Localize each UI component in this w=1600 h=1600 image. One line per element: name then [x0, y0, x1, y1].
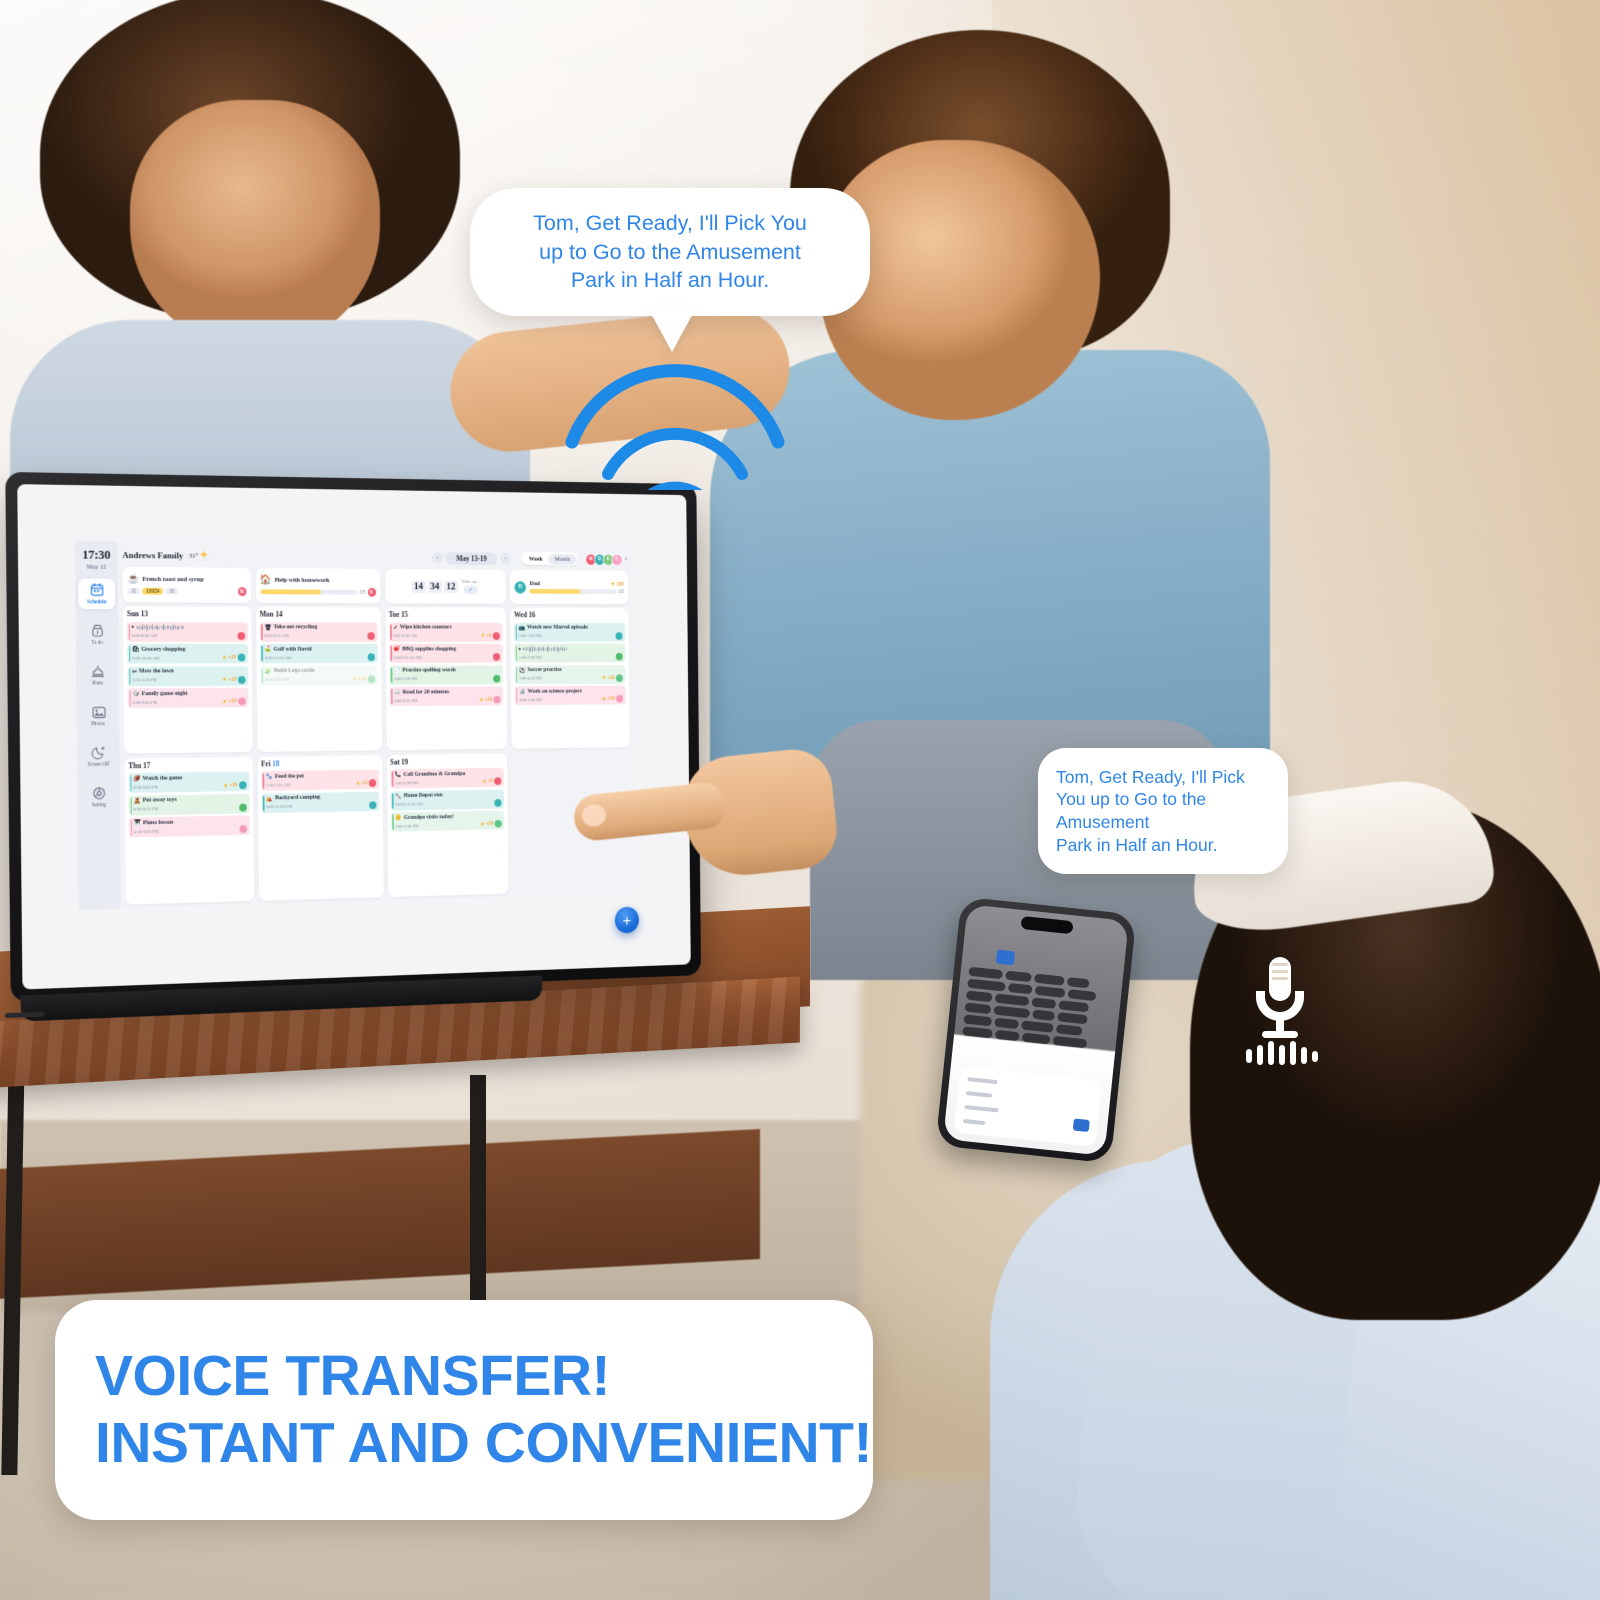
microphone-icon [1232, 955, 1328, 1065]
event-meta-row: 2:00-2:30 PM★+5 [395, 777, 502, 786]
sidebar-item-photos[interactable]: Photos [79, 700, 116, 731]
countdown-caption: Wake up... [462, 579, 480, 584]
countdown-digits: 14 34 12 [411, 580, 458, 593]
speech-line: Tom, Get Ready, I'll Pick [1056, 766, 1245, 789]
event-card[interactable]: 📄Practice spelling words2:00-2:30 PM [389, 665, 503, 685]
event-time: 6:00-11:00 PM [266, 804, 292, 809]
event-points-group: ★+5 [480, 632, 500, 640]
phone-app-tile[interactable] [1053, 1036, 1088, 1049]
event-title-row: 📺Watch new Marvel episode [519, 624, 623, 631]
event-emoji-icon: ⚽ [519, 667, 526, 674]
event-time: 2:00-2:30 PM [394, 676, 417, 681]
progress-label: 3/5 [360, 589, 366, 594]
phone-app-tile[interactable] [1058, 1000, 1089, 1012]
sun-cloud-icon [200, 550, 211, 561]
day-column-fri[interactable]: Fri 18🐾Feed the pet7:30-7:45 AM★+5⛺Backy… [257, 755, 383, 901]
event-member-dot [616, 674, 623, 682]
event-meta-row: 9:00-10:00 AM★+10 [132, 654, 245, 662]
countdown-digit: 12 [444, 580, 458, 592]
phone-app-tile[interactable] [993, 1006, 1030, 1019]
event-points: +10 [358, 676, 366, 682]
day-name: Mon [260, 610, 274, 619]
phone-app-tile[interactable] [966, 991, 993, 1003]
event-meta-row: 4:00-5:00 PM★+10 [519, 695, 623, 703]
event-card[interactable]: ⛺Backyard camping6:00-11:00 PM [261, 791, 378, 812]
event-title: Read for 20 minutes [403, 689, 450, 695]
speech-bubble-phone-text: Tom, Get Ready, I'll PickYou up to Go to… [1038, 766, 1263, 857]
event-title-row: ✂Mow the lawn [132, 668, 245, 675]
event-member-dot [493, 674, 500, 682]
star-icon: ★ [222, 654, 227, 661]
event-card[interactable]: 🐾Feed the pet7:30-7:45 AM★+5 [261, 770, 378, 791]
member-name: Dad [530, 580, 540, 587]
event-title: Feed the pet [275, 773, 304, 779]
event-points-group: ★+10 [223, 781, 247, 789]
day-number: 15 [401, 610, 408, 619]
star-icon: ★ [601, 674, 606, 681]
day-column-mon[interactable]: Mon 14🗑Take out recycling8:00-8:15 AM⛳Go… [256, 607, 382, 752]
event-meta-row: 8:00-8:20 PM★+11 [394, 696, 501, 704]
event-card[interactable]: 🧩Build Lego castle4:00-5:30 PM★+10 [260, 665, 377, 685]
day-name: Wed [514, 611, 527, 620]
event-points-group: ★+11 [479, 696, 501, 704]
event-member-dot [239, 825, 247, 833]
event-title-row: ▸ [519, 645, 623, 652]
promo-banner: VOICE TRANSFER! INSTANT AND CONVENIENT! [55, 1300, 873, 1520]
event-card[interactable]: 👴Grandpa visits today!2:00-3:30 PM★+10 [391, 810, 505, 831]
event-meta-row: 1:30-2:30 PM★+10 [132, 676, 245, 684]
event-points-group [369, 801, 376, 809]
pointing-hand [569, 748, 820, 892]
event-title-row: ✓Wipe kitchen counters [393, 624, 500, 631]
play-icon[interactable]: ▸ [519, 646, 521, 652]
add-member-button[interactable]: + [624, 556, 628, 563]
event-member-dot [238, 697, 246, 705]
event-time: 6:00-9:00 PM [133, 699, 158, 704]
phone-app-tile[interactable] [965, 1002, 992, 1014]
event-meta-row: 8:00-11:00 AM [265, 653, 375, 661]
day-column-wed[interactable]: Wed 16📺Watch new Marvel episode6:00-7:00… [510, 608, 629, 749]
event-points-group [616, 653, 623, 660]
day-column-thu[interactable]: Thu 17🏈Watch the game8:00-9:00 PM★+10🧸Pu… [124, 756, 254, 904]
speech-bubble-tail [648, 308, 696, 352]
day-name: Sun [127, 609, 139, 618]
event-time: 2:00-3:30 PM [395, 823, 418, 828]
event-member-dot [368, 779, 375, 787]
wifi-signal-icon [560, 350, 790, 490]
event-points-group: ★+10 [222, 676, 246, 684]
widget-task-progress: 3/5 K [260, 587, 375, 596]
event-emoji-icon: 👴 [395, 814, 402, 821]
speech-line: Park in Half an Hour. [533, 266, 807, 294]
countdown-check-button[interactable]: ✓ [464, 585, 478, 594]
event-card[interactable]: 🎲Family game night6:00-9:00 PM★+12 [128, 688, 249, 708]
event-title-row: 🗑Take out recycling [264, 624, 374, 631]
event-emoji-icon: 🧩 [265, 668, 272, 675]
star-icon: ★ [480, 821, 485, 828]
event-title: Put away toys [143, 797, 177, 804]
play-icon[interactable]: ▸ [132, 624, 134, 630]
star-icon: ★ [223, 782, 228, 789]
day-header: Tue 15 [389, 610, 503, 619]
event-member-dot [239, 803, 247, 811]
event-title: BBQ supplies shopping [402, 646, 456, 652]
widget-meal-chips: 31 120CH 26 M [128, 586, 247, 595]
event-emoji-icon: 📞 [395, 771, 402, 778]
view-toggle: Week Month [521, 552, 577, 566]
speech-line: Park in Half an Hour. [1056, 834, 1245, 857]
event-card[interactable]: 📞Call Grandma & Grandpa2:00-2:30 PM★+5 [390, 768, 504, 789]
phone-app-tile[interactable] [1005, 971, 1032, 983]
event-points-group [616, 632, 623, 639]
event-meta-row: 8:00-8:30 PM [134, 803, 247, 813]
day-number: 13 [141, 609, 148, 618]
event-card[interactable]: 🔬Work on science project4:00-5:00 PM★+10 [515, 686, 626, 706]
chip: 31 [128, 587, 141, 594]
avatar: K [367, 587, 375, 596]
sidebar-item-screen-off[interactable]: Screen Off [80, 741, 117, 772]
chip: 120CH [142, 587, 163, 594]
event-card[interactable]: 🥩BBQ supplies shopping10:00-11:30 AM [389, 644, 503, 663]
week-grid: Sun 13▸8:00-8:30 AM🛍Grocery shopping9:00… [123, 606, 631, 908]
day-name: Tue [389, 610, 400, 619]
event-member-dot [616, 632, 623, 639]
event-points: +11 [485, 697, 492, 703]
voice-waveform [523, 646, 567, 653]
calendar-icon [89, 582, 104, 597]
event-time: 8:00-8:30 PM [134, 806, 159, 811]
widget-member[interactable]: D Dad ★ 100 3/5 [510, 570, 628, 605]
page-title: Andrews Family [122, 550, 183, 560]
phone-app-tile[interactable] [1008, 983, 1033, 994]
day-column-sat[interactable]: Sat 19📞Call Grandma & Grandpa2:00-2:30 P… [386, 753, 508, 897]
event-meta-row: 5:00-7:00 PM [519, 653, 623, 661]
sidebar-item-label: Setting [92, 802, 106, 808]
sidebar-item-to-do[interactable]: To do [78, 619, 115, 650]
star-icon: ★ [482, 778, 487, 785]
person-boy-left [10, 0, 530, 510]
phone-app-tile[interactable] [1022, 1033, 1051, 1045]
speech-line: You up to Go to the [1056, 788, 1245, 811]
event-emoji-icon: 🎹 [134, 819, 141, 826]
sidebar-item-label: Photos [91, 721, 105, 727]
event-member-dot [616, 695, 623, 703]
bell-icon [90, 664, 105, 679]
widget-countdown[interactable]: 14 34 12 Wake up... ✓ [385, 569, 506, 604]
event-points-group [237, 632, 245, 640]
event-member-dot [616, 653, 623, 660]
moon-icon [91, 745, 106, 760]
phone-app-tile[interactable] [1035, 986, 1066, 998]
widget-meal[interactable]: ☕ French toast and syrup 31 120CH 26 M [122, 567, 251, 603]
event-meta-row: 4:00-5:30 PM★+10 [265, 675, 375, 683]
event-card[interactable]: 🗑Take out recycling8:00-8:15 AM [260, 622, 377, 641]
event-time: 9:00-10:00 AM [132, 655, 159, 660]
progress-bar [260, 589, 358, 594]
day-header: Sat 19 [390, 756, 504, 766]
progress-label: 3/5 [618, 589, 624, 594]
widget-task-title: Help with housework [275, 577, 330, 584]
event-title-row: 📄Practice spelling words [394, 667, 501, 674]
week-navigator: ‹ May 13-19 › [432, 552, 511, 565]
event-time: 10:00-11:30 AM [394, 655, 422, 660]
event-title-row: 🔬Work on science project [519, 688, 623, 695]
day-header: Thu 17 [128, 759, 249, 769]
date-range-label[interactable]: May 13-19 [446, 552, 498, 565]
event-title: Piano lesson [143, 819, 173, 826]
member-points: 100 [616, 581, 623, 587]
event-title: Mow the lawn [139, 668, 174, 674]
speech-bubble-phone: Tom, Get Ready, I'll PickYou up to Go to… [1038, 748, 1288, 874]
phone-app-tile[interactable] [968, 967, 1003, 980]
speech-bubble-device-text: Tom, Get Ready, I'll Pick Youup to Go to… [511, 209, 829, 294]
event-meta-row: 2:00-3:30 PM★+10 [395, 820, 502, 830]
event-title: Family game night [142, 690, 188, 696]
event-meta-row: 10:00-11:30 AM [394, 653, 501, 661]
event-card[interactable]: 🧸Put away toys8:00-8:30 PM [129, 793, 250, 815]
avatar: M [238, 587, 247, 596]
event-points-group: ★+10 [480, 820, 502, 828]
phone-app-tile[interactable] [967, 979, 1006, 992]
sidebar-item-plans[interactable]: Plans [79, 660, 116, 691]
sidebar-item-label: Screen Off [87, 762, 109, 768]
event-emoji-icon: 🔬 [519, 688, 526, 695]
sidebar-item-label: Plans [92, 681, 103, 687]
event-card[interactable]: ✓Wipe kitchen counters8:00-8:30 AM★+5 [389, 622, 503, 641]
smart-calendar-device: 17:30 May 12 ScheduleTo doPlansPhotosScr… [5, 472, 701, 1002]
voice-waveform [136, 624, 184, 631]
event-time: 8:00-9:00 PM [133, 784, 158, 789]
phone-app-tile[interactable] [1034, 974, 1065, 986]
event-title-row: 📖Read for 20 minutes [394, 688, 501, 695]
event-points: +10 [228, 677, 236, 683]
progress-bar [530, 589, 617, 594]
event-card[interactable]: 📺Watch new Marvel episode6:00-7:00 PM [514, 622, 625, 641]
event-title: Home Depot run [404, 792, 443, 798]
event-member-dot [239, 781, 247, 789]
phone-app-tile[interactable] [1032, 1010, 1055, 1021]
phone-highlight-tile [996, 950, 1015, 966]
star-icon: ★ [479, 696, 484, 703]
event-title: Watch new Marvel episode [527, 625, 588, 631]
app-sidebar: 17:30 May 12 ScheduleTo doPlansPhotosScr… [75, 541, 121, 910]
event-points: +10 [229, 782, 237, 788]
widget-task[interactable]: 🏠 Help with housework 3/5 K [255, 568, 380, 604]
event-emoji-icon: 🛍 [132, 646, 139, 653]
event-points-group: ★+12 [222, 697, 246, 705]
event-title: Grandpa visits today! [404, 814, 454, 821]
headline-line-2: INSTANT AND CONVENIENT! [95, 1410, 873, 1477]
event-points-group: ★+5 [355, 779, 375, 787]
event-points-group [367, 653, 374, 661]
event-meta-row: 2:00-2:30 PM [394, 674, 501, 682]
countdown-digit: 34 [427, 580, 442, 592]
event-member-dot [494, 696, 501, 704]
event-title-row: 🧩Build Lego castle [265, 667, 375, 674]
clock-widget: 17:30 May 12 [82, 547, 110, 571]
event-card[interactable]: ✂Mow the lawn1:30-2:30 PM★+10 [127, 666, 248, 686]
event-card[interactable]: 📖Read for 20 minutes8:00-8:20 PM★+11 [389, 686, 503, 706]
event-member-dot [495, 799, 502, 807]
tab-week[interactable]: Week [523, 553, 549, 564]
event-title: Soccer practice [527, 667, 561, 673]
event-points-group [367, 632, 374, 640]
event-time: 4:30-6:00 PM [134, 828, 159, 833]
event-meta-row: 4:30-6:00 PM [134, 825, 247, 835]
phone-screen[interactable] [943, 904, 1129, 1156]
event-points-group [493, 674, 500, 682]
smartphone [935, 896, 1136, 1163]
phone-app-tile[interactable] [995, 1030, 1020, 1041]
weather-widget: 31° [189, 550, 211, 561]
event-points: +5 [487, 633, 492, 639]
headline-line-1: VOICE TRANSFER! [95, 1343, 873, 1410]
phone-app-tile[interactable] [995, 994, 1030, 1007]
avatar[interactable]: C [611, 553, 622, 565]
speech-line: Tom, Get Ready, I'll Pick You [533, 209, 807, 237]
widget-row: ☕ French toast and syrup 31 120CH 26 M 🏠 [122, 567, 628, 604]
event-member-dot [493, 632, 500, 640]
event-title-row: ⛳Golf with David [265, 646, 375, 653]
phone-app-tile[interactable] [994, 1018, 1019, 1029]
event-title: Backyard camping [275, 795, 320, 802]
event-emoji-icon: 🧸 [134, 797, 141, 804]
event-title: Golf with David [273, 646, 311, 652]
day-column-sun[interactable]: Sun 13▸8:00-8:30 AM🛍Grocery shopping9:00… [123, 606, 253, 753]
event-title-row: 🎲Family game night [132, 690, 245, 698]
star-icon: ★ [355, 780, 360, 787]
day-column-tue[interactable]: Tue 15✓Wipe kitchen counters8:00-8:30 AM… [385, 607, 507, 750]
phone-app-tile[interactable] [963, 1014, 992, 1026]
sidebar-item-setting[interactable]: Setting [80, 781, 117, 812]
event-meta-row: 8:00-8:30 AM [132, 632, 245, 640]
temperature-label: 31° [189, 552, 198, 560]
event-card[interactable]: ⚽Soccer practice3:00-4:30 PM★+10 [515, 665, 626, 684]
event-emoji-icon: 🐾 [266, 773, 273, 780]
event-card[interactable]: 🛍Grocery shopping9:00-10:00 AM★+10 [127, 644, 248, 664]
event-card[interactable]: 🔨Home Depot run10:00-11:00 AM [390, 789, 504, 810]
event-points: +5 [488, 778, 493, 784]
sidebar-nav: ScheduleTo doPlansPhotosScreen OffSettin… [75, 578, 120, 812]
event-member-dot [494, 777, 501, 785]
event-member-dot [367, 675, 374, 683]
clock-date: May 12 [82, 564, 110, 571]
event-time: 8:00-8:30 AM [132, 633, 157, 638]
event-time: 3:00-4:30 PM [519, 676, 542, 681]
event-points-group [239, 825, 247, 833]
phone-app-tile[interactable] [1057, 1012, 1088, 1024]
day-number: 19 [401, 757, 408, 766]
event-emoji-icon: ✓ [393, 624, 398, 631]
event-time: 6:00-7:00 PM [519, 633, 542, 638]
event-emoji-icon: ⛳ [265, 646, 272, 653]
event-meta-row: 3:00-4:30 PM★+10 [519, 674, 623, 682]
event-time: 5:00-7:00 PM [519, 654, 542, 659]
event-meta-row: 7:30-7:45 AM★+5 [266, 779, 376, 789]
day-name: Fri [261, 759, 270, 768]
event-member-dot [369, 801, 376, 809]
app-header: Andrews Family 31° ‹ [122, 545, 628, 569]
event-time: 2:00-2:30 PM [395, 780, 418, 785]
event-time: 8:00-11:00 AM [265, 655, 291, 660]
star-icon: ★ [602, 696, 607, 703]
event-meta-row: 6:00-9:00 PM★+12 [133, 697, 246, 706]
next-week-button[interactable]: › [500, 553, 511, 564]
event-time: 7:30-7:45 AM [266, 782, 290, 787]
event-card[interactable]: 🏈Watch the game8:00-9:00 PM★+10 [128, 771, 249, 793]
event-title-row: ⚽Soccer practice [519, 666, 623, 673]
event-points: +12 [229, 698, 237, 704]
day-number: 17 [143, 761, 150, 770]
event-title: Watch the game [142, 775, 182, 782]
phone-app-tile[interactable] [962, 1026, 993, 1038]
day-number: 18 [272, 759, 279, 768]
event-time: 4:00-5:00 PM [519, 697, 542, 702]
event-emoji-icon: 🗑 [264, 624, 271, 631]
tab-month[interactable]: Month [549, 554, 577, 565]
phone-app-tile[interactable] [1068, 989, 1097, 1001]
phone-app-tile[interactable] [1031, 997, 1056, 1008]
photo-icon [91, 704, 106, 719]
star-icon: ★ [352, 676, 357, 683]
event-points: +10 [486, 821, 494, 827]
countdown-caption-group: Wake up... ✓ [462, 579, 480, 593]
event-meta-row: 8:00-8:15 AM [264, 632, 374, 640]
houseplant [1280, 0, 1600, 550]
event-member-dot [237, 654, 245, 662]
chip: 26 [165, 587, 178, 594]
event-points: +5 [362, 780, 367, 786]
event-member-dot [367, 653, 374, 661]
event-card[interactable]: ▸5:00-7:00 PM [514, 644, 625, 663]
device-screen[interactable]: 17:30 May 12 ScheduleTo doPlansPhotosScr… [75, 541, 636, 910]
event-time: 10:00-11:00 AM [395, 801, 423, 806]
event-emoji-icon: 🥩 [394, 646, 401, 653]
event-title: Practice spelling words [402, 668, 456, 674]
event-time: 1:30-2:30 PM [132, 677, 157, 682]
event-title: Work on science project [528, 688, 582, 694]
phone-app-tile[interactable] [1067, 977, 1090, 988]
sidebar-item-schedule[interactable]: Schedule [78, 578, 115, 609]
event-points: +10 [607, 675, 614, 681]
prev-week-button[interactable]: ‹ [432, 552, 443, 564]
countdown-digit: 14 [411, 580, 426, 593]
event-emoji-icon: ⛺ [266, 795, 273, 802]
event-card[interactable]: ⛳Golf with David8:00-11:00 AM [260, 644, 377, 664]
event-meta-row: 8:00-9:00 PM★+10 [133, 781, 246, 791]
event-meta-row: 10:00-11:00 AM [395, 799, 502, 809]
event-member-dot [367, 632, 374, 640]
event-member-dot [237, 632, 245, 640]
event-title: Build Lego castle [274, 668, 315, 674]
phone-app-tile[interactable] [1021, 1020, 1054, 1032]
event-card[interactable]: 🎹Piano lesson4:30-6:00 PM [129, 815, 250, 837]
event-card[interactable]: ▸8:00-8:30 AM [127, 622, 248, 642]
event-points-group: ★+10 [601, 674, 623, 682]
event-points: +10 [228, 655, 236, 661]
checklist-icon [90, 623, 105, 638]
phone-keyboard-panel [954, 1066, 1102, 1146]
coffee-icon: ☕ [127, 574, 139, 584]
house-icon: 🏠 [260, 575, 272, 585]
event-points-group: ★+10 [602, 695, 624, 703]
event-meta-row: 6:00-11:00 PM [266, 801, 376, 811]
gear-icon [91, 785, 106, 800]
day-header: Sun 13 [127, 609, 248, 618]
event-points: +10 [607, 696, 614, 702]
event-time: 4:00-5:30 PM [265, 677, 289, 682]
phone-app-tile[interactable] [1056, 1024, 1083, 1036]
